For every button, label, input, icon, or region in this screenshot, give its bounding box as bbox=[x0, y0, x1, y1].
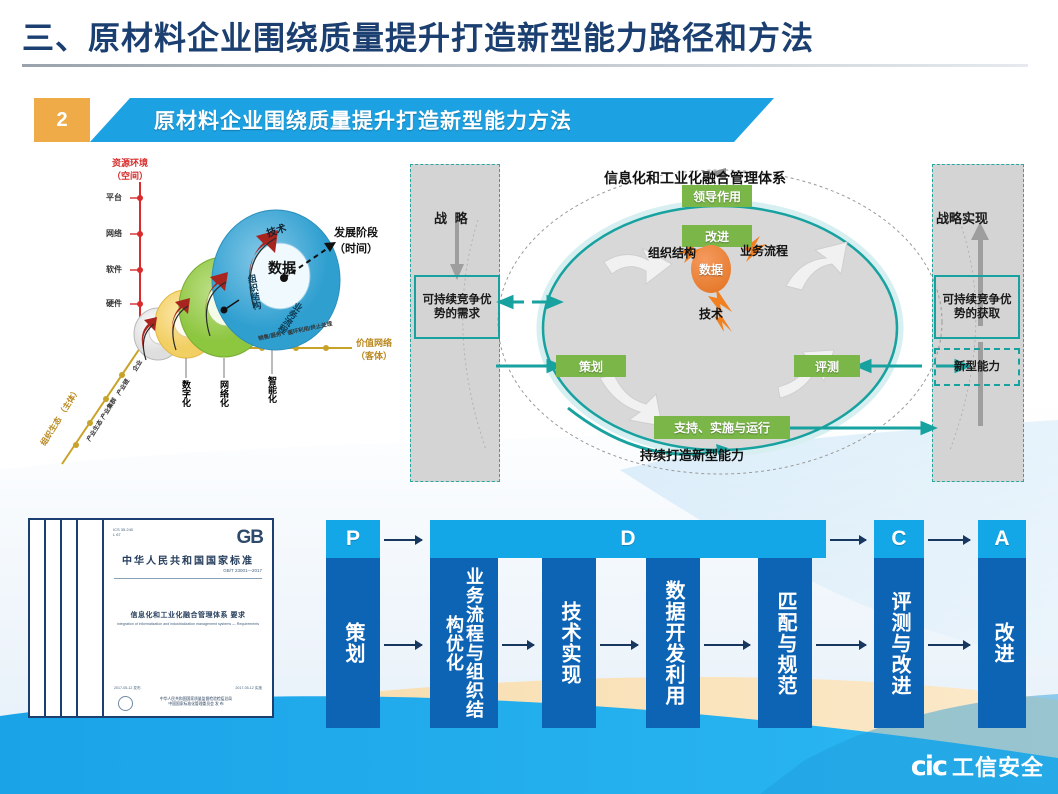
standard-document-stack: ICS 35.240 L 67 GB 中华人民共和国国家标准 GB/T 2300… bbox=[28, 518, 288, 728]
doc-issuer: 中华人民共和国国家质量监督检验检疫总局 中国国家标准化管理委员会 发 布 bbox=[128, 697, 264, 707]
strategy-label: 战 略 bbox=[434, 208, 470, 227]
pdca-col-technology: 技术实现 bbox=[542, 558, 596, 728]
technology-label: 技术 bbox=[690, 308, 732, 321]
pdca-top-arrow-3 bbox=[928, 539, 970, 541]
pdca-mid-arrow-2 bbox=[502, 644, 534, 646]
title-block: 三、原材料企业围绕质量提升打造新型能力路径和方法 bbox=[22, 18, 1036, 67]
spiral-tick-network: 网络 bbox=[106, 228, 122, 239]
pdca-head-c: C bbox=[874, 520, 924, 558]
pdca-mid-arrow-4 bbox=[704, 644, 750, 646]
strategy-realization-label: 战略实现 bbox=[936, 208, 988, 227]
data-core-bubble: 数据 bbox=[691, 245, 731, 293]
pdca-mid-arrow-5 bbox=[816, 644, 866, 646]
pdca-col-plan: 策划 bbox=[326, 558, 380, 728]
pdca-mid-arrow-3 bbox=[600, 644, 638, 646]
new-capability-box: 新型能力 bbox=[934, 348, 1020, 386]
doc-standard-code: GB/T 23001—2017 bbox=[223, 568, 262, 573]
section-banner: 2 原材料企业围绕质量提升打造新型能力方法 bbox=[34, 98, 774, 142]
doc-dates: 2017-05-12 发布 2017-05-12 实施 bbox=[114, 686, 262, 691]
spiral-time-axis-title: 发展阶段 （时间） bbox=[334, 224, 378, 256]
section-banner-title: 原材料企业围绕质量提升打造新型能力方法 bbox=[154, 98, 572, 142]
cic-logo-mark: cic bbox=[911, 751, 946, 782]
spiral-stage-digital: 数字化 bbox=[180, 380, 193, 407]
pdca-col-improve: 改进 bbox=[978, 558, 1026, 728]
title-divider bbox=[22, 64, 1028, 67]
slide-canvas: 三、原材料企业围绕质量提升打造新型能力路径和方法 2 原材料企业围绕质量提升打造… bbox=[0, 0, 1058, 794]
doc-subject-title: 信息化和工业化融合管理体系 要求 bbox=[104, 610, 272, 620]
spiral-stage-smart: 智能化 bbox=[266, 376, 279, 403]
pdca-col-evaluate: 评测与改进 bbox=[874, 558, 924, 728]
pdca-flow: P D C A 策划 业务流程与组织结构优化 技术实现 数据开发利用 匹配与规范… bbox=[326, 520, 1026, 728]
sustainable-advantage-demand-box: 可持续竞争优势的需求 bbox=[414, 275, 500, 339]
spiral-vertical-axis-title: 资源环境 （空间） bbox=[112, 156, 148, 182]
cycle-caption: 持续打造新型能力 bbox=[640, 445, 744, 464]
org-structure-label: 组织结构 bbox=[648, 247, 690, 260]
doc-divider bbox=[114, 578, 262, 579]
green-box-leadership: 领导作用 bbox=[682, 185, 752, 207]
brand-logo: cic 工信安全 bbox=[911, 750, 1044, 782]
pdca-head-p: P bbox=[326, 520, 380, 558]
gb-logo: GB bbox=[237, 527, 264, 549]
logo-text: 工信安全 bbox=[952, 750, 1044, 782]
doc-top-code: ICS 35.240 L 67 bbox=[113, 527, 133, 537]
spiral-tick-platform: 平台 bbox=[106, 192, 122, 203]
sustainable-advantage-gain-box: 可持续竞争优势的获取 bbox=[934, 275, 1020, 339]
pdca-top-arrow-1 bbox=[384, 539, 422, 541]
doc-country-title: 中华人民共和国国家标准 bbox=[104, 552, 272, 567]
pdca-mid-arrow-6 bbox=[928, 644, 970, 646]
standard-document-cover: ICS 35.240 L 67 GB 中华人民共和国国家标准 GB/T 2300… bbox=[102, 518, 274, 718]
spiral-horizontal-axis-title: 价值网络 （客体） bbox=[356, 336, 392, 362]
pdca-col-process-org: 业务流程与组织结构优化 bbox=[430, 558, 498, 728]
pdca-top-arrow-2 bbox=[830, 539, 866, 541]
pdca-col-match: 匹配与规范 bbox=[758, 558, 812, 728]
spiral-tick-software: 软件 bbox=[106, 264, 122, 275]
integration-management-diagram: 战 略 战略实现 可持续竞争优势的需求 可持续竞争优势的获取 新型能力 信息化和… bbox=[408, 150, 1032, 490]
business-process-label: 业务流程 bbox=[740, 245, 782, 258]
capability-spiral-diagram: 资源环境 （空间） 平台 网络 软件 硬件 价值网络 （客体） 循环利用/终止处… bbox=[34, 152, 406, 492]
pdca-head-a: A bbox=[978, 520, 1026, 558]
spiral-stage-network: 网络化 bbox=[218, 380, 231, 407]
pdca-head-d: D bbox=[430, 520, 826, 558]
page-title: 三、原材料企业围绕质量提升打造新型能力路径和方法 bbox=[22, 18, 1036, 58]
green-box-plan: 策划 bbox=[556, 355, 626, 377]
doc-subject-title-en: Integration of informatization and indus… bbox=[116, 622, 260, 627]
green-box-evaluate: 评测 bbox=[794, 355, 860, 377]
pdca-col-data: 数据开发利用 bbox=[646, 558, 700, 728]
section-number-badge: 2 bbox=[34, 98, 90, 142]
pdca-mid-arrow-1 bbox=[384, 644, 422, 646]
spiral-tick-hardware: 硬件 bbox=[106, 298, 122, 309]
spiral-center-label: 数据 bbox=[268, 258, 296, 278]
green-box-support: 支持、实施与运行 bbox=[654, 416, 790, 439]
